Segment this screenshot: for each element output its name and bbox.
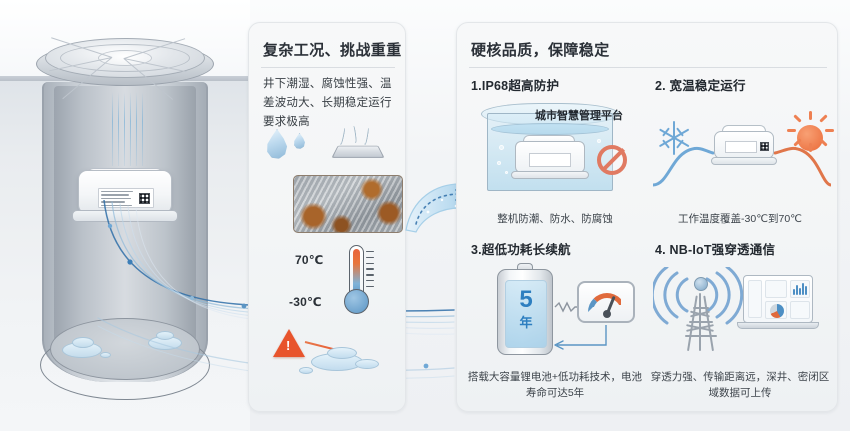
dashboard-tile-bars (790, 280, 810, 298)
water-droplet-icon (265, 129, 309, 163)
tower-crossbeam (685, 335, 717, 337)
device-spec-label (725, 141, 757, 153)
steam-wisp (352, 125, 357, 143)
feature-2-heading: 2. 宽温稳定运行 (655, 75, 746, 94)
well-puddle (72, 337, 94, 348)
snowflake-sun-device (653, 99, 831, 203)
water-drip-lines (110, 92, 144, 166)
panel-puddle (327, 347, 357, 359)
laptop-screen (743, 275, 813, 323)
feature-3-heading: 3.超低功耗长续航 (471, 239, 571, 258)
battery-body: 5 年 (497, 269, 553, 355)
battery-life-unit: 年 (498, 316, 554, 329)
tower-crossbeam (689, 321, 713, 323)
tower-leg (687, 296, 698, 352)
challenges-panel-title: 复杂工况、挑战重重 (263, 39, 402, 60)
submerged-device (511, 135, 589, 179)
well-puddle (100, 352, 111, 358)
device-base-plate (511, 171, 589, 179)
steam-wisp (339, 127, 346, 145)
device-base-plate (72, 210, 178, 222)
cell-tower-laptop (653, 259, 833, 363)
dashboard-sidebar (748, 280, 762, 318)
challenges-panel: 复杂工况、挑战重重 井下潮湿、腐蚀性强、温差波动大、长期稳定运行要求极高 70℃… (248, 22, 406, 412)
dashboard-tile-pie (765, 301, 787, 319)
humid-plate (331, 146, 384, 158)
panel-puddle (355, 359, 379, 369)
dashboard-tile-trend (790, 301, 810, 319)
device-spec-label (98, 188, 154, 208)
infographic-root: 复杂工况、挑战重重 井下潮湿、腐蚀性强、温差波动大、长期稳定运行要求极高 70℃… (0, 0, 850, 431)
steam-plate-icon (335, 127, 385, 165)
tower-crossbeam (693, 307, 709, 309)
thermometer-scale (366, 251, 375, 293)
steam-wisp (363, 127, 369, 145)
laptop-base (737, 322, 819, 329)
feature-4-heading: 4. NB-IoT强穿透通信 (655, 239, 775, 258)
gauge-hub (603, 310, 611, 318)
battery-gauge: 5 年 (481, 259, 641, 363)
tank-water-surface (491, 123, 609, 135)
snowflake-icon (657, 121, 691, 155)
bubble (505, 171, 508, 174)
cell-tower-icon (675, 277, 727, 351)
qr-code-icon (139, 193, 150, 204)
feature-1-caption: 整机防潮、防水、防腐蚀 (465, 211, 645, 227)
platform-label: 城市智慧管理平台 (521, 107, 637, 123)
temperature-low-label: -30℃ (289, 295, 322, 309)
manhole-cover (36, 36, 214, 92)
temperature-high-label: 70℃ (295, 253, 323, 267)
bubble (499, 145, 504, 150)
challenges-description: 井下潮湿、腐蚀性强、温差波动大、长期稳定运行要求极高 (263, 75, 397, 132)
quality-panel-title: 硬核品质，保障稳定 (471, 39, 610, 60)
droplet-large (265, 129, 289, 159)
device-spec-label (529, 153, 571, 167)
well-puddle (156, 331, 174, 340)
feature-2-caption: 工作温度覆盖-30℃到70℃ (647, 211, 833, 227)
thermometer-icon (341, 245, 371, 317)
laptop-dashboard (737, 275, 819, 337)
bubble (497, 161, 501, 165)
power-gauge-icon (577, 281, 635, 323)
prohibition-icon (597, 145, 627, 175)
device-label-text-lines (101, 191, 137, 208)
underground-well-scene (0, 0, 250, 431)
battery-life-value: 5 (498, 288, 554, 312)
corroded-metal-photo (293, 175, 403, 233)
bubble (597, 139, 601, 143)
tower-antenna-ball (694, 277, 708, 291)
device-base-plate (711, 157, 777, 165)
title-divider (261, 67, 395, 68)
dashboard-tile-line (765, 280, 787, 298)
feature-4-caption: 穿透力强、传输距离远，深井、密闭区域数据可上传 (647, 369, 833, 401)
quality-panel: 硬核品质，保障稳定 1.IP68超高防护 整机防潮、防水、防腐蚀 2. 宽温稳定… (456, 22, 838, 412)
iot-monitoring-device (72, 168, 178, 224)
panel-puddle (299, 367, 313, 374)
warning-exclamation: ! (286, 339, 290, 352)
droplet-small (293, 133, 306, 149)
title-divider (469, 67, 827, 68)
device-unit (711, 125, 777, 169)
feature-1-heading: 1.IP68超高防护 (471, 75, 559, 94)
qr-code-icon (760, 142, 769, 151)
feature-3-caption: 搭载大容量锂电池+低功耗技术，电池寿命可达5年 (465, 369, 645, 401)
